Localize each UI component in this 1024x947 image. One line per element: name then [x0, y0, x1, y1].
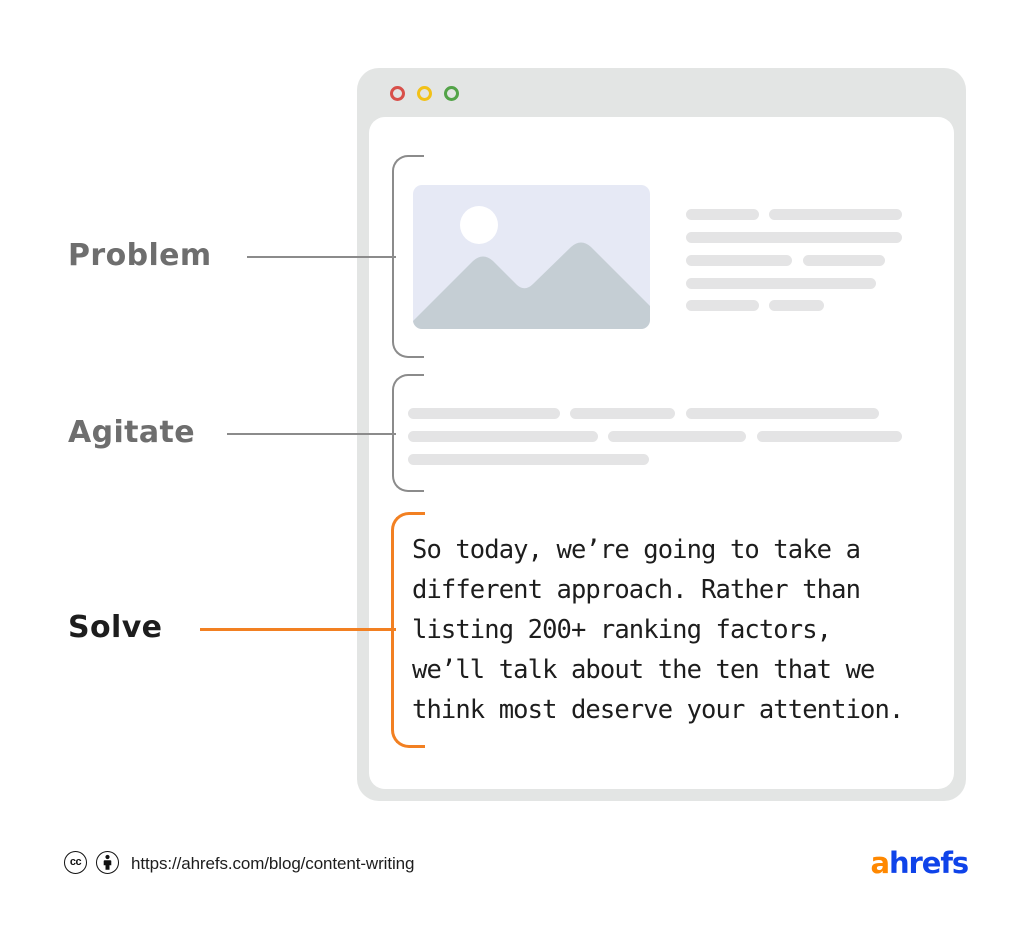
- creative-commons-icon: cc: [64, 851, 87, 874]
- text-placeholder-bar: [686, 278, 876, 289]
- minimize-dot[interactable]: [417, 86, 432, 101]
- text-placeholder-bar: [769, 300, 824, 311]
- logo-accent-letter: a: [871, 846, 889, 880]
- text-placeholder-bar: [686, 209, 759, 220]
- text-placeholder-bar: [757, 431, 902, 442]
- text-placeholder-bar: [686, 408, 879, 419]
- text-placeholder-bar: [570, 408, 675, 419]
- source-url[interactable]: https://ahrefs.com/blog/content-writing: [131, 854, 414, 874]
- text-placeholder-bar: [769, 209, 902, 220]
- text-placeholder-bar: [803, 255, 885, 266]
- logo-wordmark: hrefs: [889, 846, 968, 880]
- text-placeholder-bar: [686, 300, 759, 311]
- annotation-label-agitate: Agitate: [68, 415, 195, 450]
- attribution-by-icon: [96, 851, 119, 874]
- image-placeholder-icon: [413, 185, 650, 329]
- browser-titlebar: [357, 68, 966, 118]
- text-placeholder-bar: [408, 431, 598, 442]
- text-placeholder-bar: [686, 255, 792, 266]
- text-placeholder-bar: [608, 431, 746, 442]
- close-dot[interactable]: [390, 86, 405, 101]
- license-badges: cc: [64, 851, 119, 874]
- connector-line-agitate: [227, 433, 396, 435]
- traffic-light-dots: [390, 86, 459, 101]
- footer: cc https://ahrefs.com/blog/content-writi…: [0, 848, 1024, 894]
- connector-line-solve: [200, 628, 396, 631]
- solve-paragraph-text: So today, we’re going to take a differen…: [412, 530, 910, 730]
- maximize-dot[interactable]: [444, 86, 459, 101]
- text-placeholder-bar: [408, 454, 649, 465]
- ahrefs-logo[interactable]: ahrefs: [871, 848, 968, 878]
- infographic-canvas: So today, we’re going to take a differen…: [0, 0, 1024, 947]
- text-placeholder-bar: [686, 232, 902, 243]
- connector-line-problem: [247, 256, 396, 258]
- annotation-label-problem: Problem: [68, 238, 212, 273]
- text-placeholder-bar: [408, 408, 560, 419]
- annotation-label-solve: Solve: [68, 610, 162, 645]
